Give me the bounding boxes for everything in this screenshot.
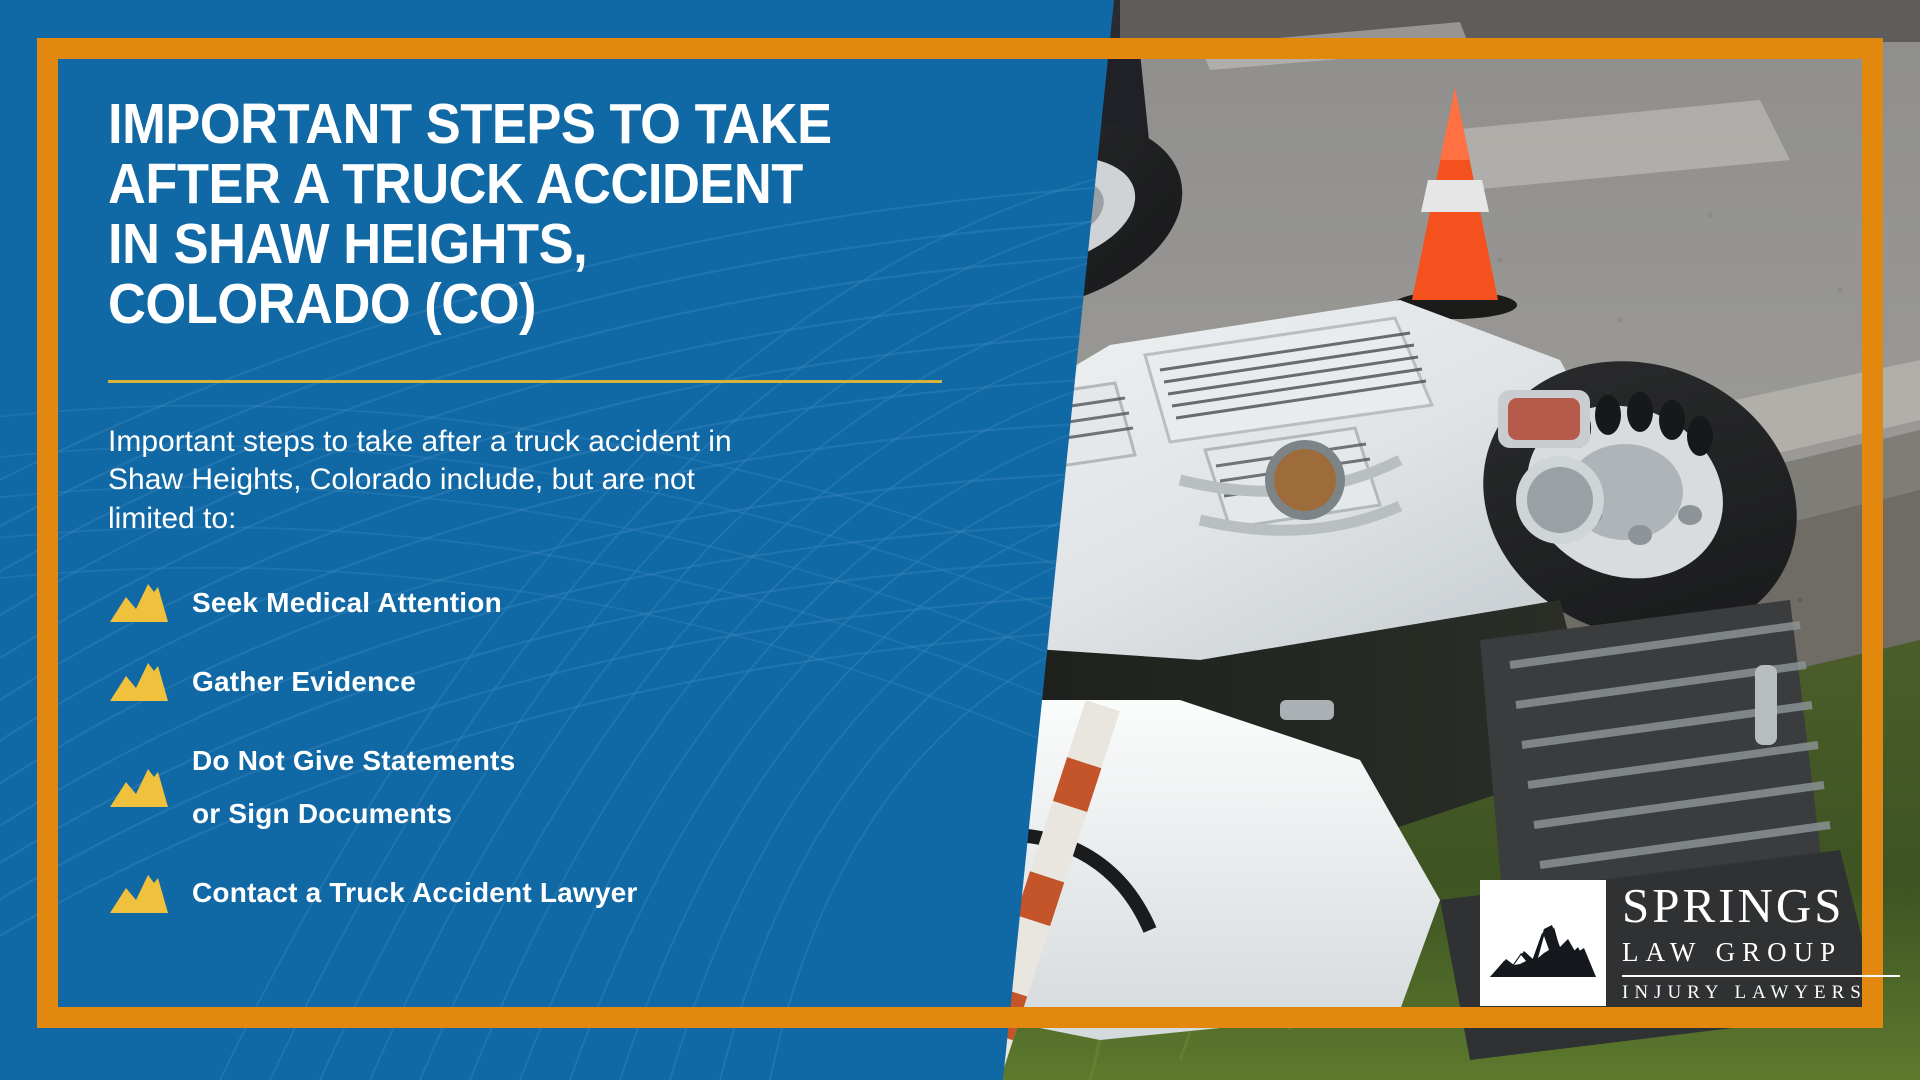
lede-paragraph: Important steps to take after a truck ac… <box>108 423 898 537</box>
infographic-canvas: IMPORTANT STEPS TO TAKE AFTER A TRUCK AC… <box>0 0 1920 1080</box>
mountain-icon <box>108 581 170 623</box>
list-item-label: Seek Medical Attention <box>192 576 502 629</box>
gold-divider <box>108 380 942 383</box>
logo-line-law-group: LAW GROUP <box>1622 934 1900 970</box>
mountain-icon <box>108 766 170 808</box>
mountain-icon <box>108 872 170 914</box>
springs-law-group-logo: SPRINGS LAW GROUP INJURY LAWYERS <box>1480 880 1900 1006</box>
mountain-logo-icon <box>1480 880 1606 1006</box>
list-item: Gather Evidence <box>108 655 988 708</box>
list-item-label: Do Not Give Statements or Sign Documents <box>192 734 515 840</box>
logo-rule <box>1622 975 1900 977</box>
list-item: Contact a Truck Accident Lawyer <box>108 866 988 919</box>
steps-list: Seek Medical Attention Gather Evidence <box>108 576 988 920</box>
list-item-label: Contact a Truck Accident Lawyer <box>192 866 638 919</box>
panel-content: IMPORTANT STEPS TO TAKE AFTER A TRUCK AC… <box>108 95 988 920</box>
list-item: Seek Medical Attention <box>108 576 988 629</box>
mountain-icon <box>108 660 170 702</box>
logo-wordmark: SPRINGS LAW GROUP INJURY LAWYERS <box>1622 881 1900 1005</box>
list-item: Do Not Give Statements or Sign Documents <box>108 734 988 840</box>
logo-line-springs: SPRINGS <box>1622 881 1900 930</box>
logo-line-injury-lawyers: INJURY LAWYERS <box>1622 982 1900 1005</box>
list-item-label: Gather Evidence <box>192 655 416 708</box>
page-title: IMPORTANT STEPS TO TAKE AFTER A TRUCK AC… <box>108 95 918 334</box>
